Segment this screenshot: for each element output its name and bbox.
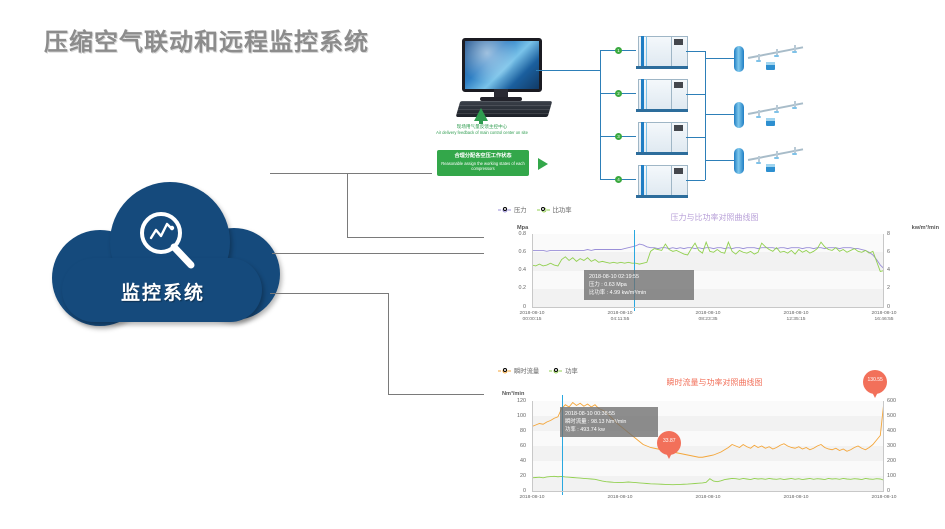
chart2-pin-0[interactable]: 33.87 [657, 431, 681, 465]
chart2-legend-item-0[interactable]: 瞬时流量 [498, 366, 539, 375]
chart2-xtick-4: 2018-08-10 [857, 495, 911, 501]
chart1-ytick-0: 0.8 [492, 231, 526, 237]
tooltip-line-0: 2018-08-10 00:38:55 [565, 410, 653, 418]
node-dot-4: 4 [615, 176, 622, 183]
connector-top-v [347, 173, 348, 237]
magnifier-chart-icon [134, 208, 200, 274]
diagram-caption-en: Air delivery feedback of main control ce… [432, 130, 532, 136]
chart2-y-axis [532, 401, 533, 491]
pin-label: 130.55 [863, 377, 887, 383]
node-dot-1: 1 [615, 47, 622, 54]
chart2-y2-axis [883, 401, 884, 491]
chart2-ytick-1: 100 [492, 413, 526, 419]
chart2-pin-1[interactable]: 130.55 [863, 370, 887, 404]
chart2-y2tick-4: 200 [887, 458, 911, 464]
wire-out-3 [686, 137, 705, 138]
chart1-xtick-4: 2018-08-1016:46:55 [857, 311, 911, 323]
chart2-y2tick-1: 500 [887, 413, 911, 419]
end-machine-1 [766, 62, 775, 70]
monitoring-system-cloud[interactable]: 监控系统 [38, 182, 288, 332]
drop-cap-3b [774, 157, 779, 159]
chart2-y2tick-2: 400 [887, 428, 911, 434]
chart1-y-axis [532, 234, 533, 307]
drop-cap-1b [774, 55, 779, 57]
chart2-legend[interactable]: 瞬时流量功率 [498, 366, 578, 375]
chart2-legend-item-1[interactable]: 功率 [549, 366, 578, 375]
green-box-cn: 合理分配各空压工作状态 [437, 153, 529, 160]
connector-mid [272, 253, 484, 254]
tooltip-line-1: 瞬时流量 : 98.13 Nm³/min [565, 418, 653, 426]
chart1-ytick-2: 0.4 [492, 267, 526, 273]
chart1-ytick-1: 0.6 [492, 249, 526, 255]
legend-label: 瞬时流量 [514, 366, 539, 375]
drop-cap-3a [756, 162, 761, 164]
chart2-tooltip: 2018-08-10 00:38:55瞬时流量 : 98.13 Nm³/min功… [560, 407, 658, 437]
legend-marker-icon [549, 368, 563, 374]
system-architecture-diagram: 现场用气量反馈主控中心 Air delivery feedback of mai… [432, 20, 945, 206]
right-arrow-icon [538, 158, 548, 170]
flow-power-chart[interactable]: 瞬时流量功率 瞬时流量与功率对照曲线图 Nm³/min 2018-08-10 0… [484, 363, 945, 523]
chart1-y2-axis [883, 234, 884, 307]
green-status-box: 合理分配各空压工作状态 Reasonable assign the workin… [437, 150, 529, 176]
chart1-y2-unit: kw/m³/min [912, 225, 939, 231]
tooltip-line-0: 2018-08-10 02:19:55 [589, 273, 689, 281]
wire-out-4 [686, 180, 705, 181]
chart1-tooltip: 2018-08-10 02:19:55压力 : 0.63 Mpa比功率 : 4.… [584, 270, 694, 300]
chart1-xtick-1: 2018-08-1004:11:55 [593, 311, 647, 323]
chart2-xtick-0: 2018-08-10 [505, 495, 559, 501]
chart1-plot-area[interactable]: 2018-08-10 02:19:55压力 : 0.63 Mpa比功率 : 4.… [532, 234, 884, 307]
chart1-ytick-4: 0 [492, 304, 526, 310]
chart2-series-1 [532, 476, 884, 484]
tooltip-line-2: 比功率 : 4.99 kw/m³/min [589, 289, 689, 297]
chart2-plot-area[interactable]: 2018-08-10 00:38:55瞬时流量 : 98.13 Nm³/min功… [532, 401, 884, 491]
wire-left-bus [600, 50, 601, 180]
chart2-xtick-1: 2018-08-10 [593, 495, 647, 501]
end-machine-3 [766, 164, 775, 172]
compressor-unit-4 [638, 165, 686, 197]
connector-top-h2 [347, 237, 484, 238]
drop-cap-1a [756, 60, 761, 62]
connector-bot-h1 [270, 293, 388, 294]
connector-top-h1 [270, 173, 432, 174]
chart1-y2tick-4: 0 [887, 304, 911, 310]
chart2-y2tick-5: 100 [887, 473, 911, 479]
chart2-ytick-3: 60 [492, 443, 526, 449]
wire-out-2 [686, 94, 705, 95]
drop-cap-3c [792, 153, 797, 155]
air-tank-1 [734, 46, 744, 72]
chart2-y2tick-3: 300 [887, 443, 911, 449]
chart2-ytick-5: 20 [492, 473, 526, 479]
end-machine-2 [766, 118, 775, 126]
tooltip-line-2: 功率 : 493.74 kw [565, 426, 653, 434]
page-title: 压缩空气联动和远程监控系统 [44, 22, 369, 57]
chart2-ytick-6: 0 [492, 488, 526, 494]
legend-marker-icon [498, 368, 512, 374]
node-dot-2: 2 [615, 90, 622, 97]
chart1-ytick-3: 0.2 [492, 285, 526, 291]
chart2-y2tick-0: 600 [887, 398, 911, 404]
connector-bot-v [388, 293, 389, 394]
chart2-y-unit: Nm³/min [502, 391, 524, 397]
chart1-y2tick-1: 6 [887, 249, 911, 255]
compressor-unit-2 [638, 79, 686, 111]
air-tank-3 [734, 148, 744, 174]
chart2-ytick-4: 40 [492, 458, 526, 464]
tooltip-line-1: 压力 : 0.63 Mpa [589, 281, 689, 289]
chart1-y2tick-3: 2 [887, 285, 911, 291]
chart1-xtick-0: 2018-08-1000:00:15 [505, 311, 559, 323]
legend-label: 功率 [565, 366, 578, 375]
cloud-label: 监控系统 [38, 278, 288, 305]
chart2-x-axis [532, 491, 884, 492]
drop-cap-2b [774, 111, 779, 113]
connector-bot-h2 [388, 394, 484, 395]
chart1-y2tick-2: 4 [887, 267, 911, 273]
drop-cap-1c [792, 51, 797, 53]
chart2-xtick-3: 2018-08-10 [769, 495, 823, 501]
chart1-title: 压力与比功率对照曲线图 [484, 212, 945, 223]
drop-cap-2a [756, 116, 761, 118]
chart2-y2tick-6: 0 [887, 488, 911, 494]
chart1-series-1 [532, 242, 884, 271]
air-tank-2 [734, 102, 744, 128]
chart2-ytick-0: 120 [492, 398, 526, 404]
chart1-xtick-2: 2018-08-1008:23:35 [681, 311, 735, 323]
drop-cap-2c [792, 107, 797, 109]
chart2-ytick-2: 80 [492, 428, 526, 434]
pressure-specific-power-chart[interactable]: 压力比功率 压力与比功率对照曲线图 Mpa kw/m³/min 2018-08-… [484, 202, 945, 332]
chart1-y2tick-0: 8 [887, 231, 911, 237]
node-dot-3: 3 [615, 133, 622, 140]
wire-to-tank-1 [705, 58, 734, 59]
wire-out-1 [686, 51, 705, 52]
wire-monitor-to-bus [536, 70, 600, 71]
compressor-unit-1 [638, 36, 686, 68]
compressor-unit-3 [638, 122, 686, 154]
wire-to-tank-2 [705, 114, 734, 115]
chart1-xtick-3: 2018-08-1012:35:15 [769, 311, 823, 323]
pin-label: 33.87 [657, 438, 681, 444]
wire-to-tank-3 [705, 160, 734, 161]
green-box-en: Reasonable assign the working states of … [437, 161, 529, 171]
chart1-x-axis [532, 307, 884, 308]
chart2-xtick-2: 2018-08-10 [681, 495, 735, 501]
